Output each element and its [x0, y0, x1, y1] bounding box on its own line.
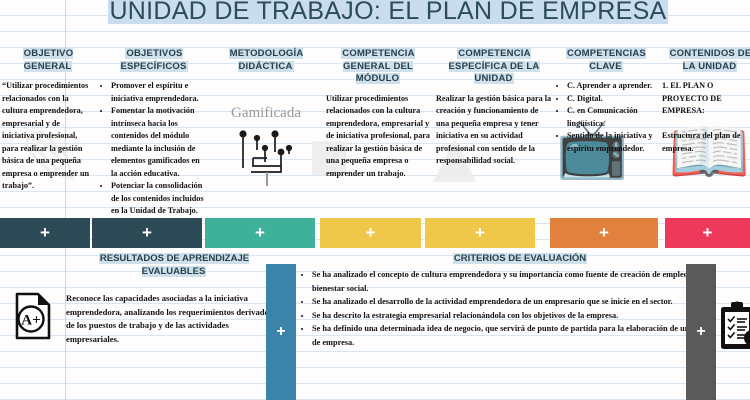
plus-icon: +	[276, 324, 285, 340]
column-heading-text: COMPETENCIA GENERAL DEL MÓDULO	[341, 48, 414, 84]
column-heading-text: OBJETIVOS ESPECÍFICOS	[120, 48, 187, 72]
column-paragraph: 1. EL PLAN O PROYECTO DE EMPRESA: Estruc…	[662, 80, 750, 155]
plus-icon: +	[40, 224, 50, 241]
criterios-heading: CRITERIOS DE EVALUACIÓN	[300, 252, 740, 265]
plus-box-4[interactable]: +	[320, 218, 421, 248]
plus-icon: +	[599, 224, 609, 241]
plus-icon: +	[475, 224, 485, 241]
plus-box-3[interactable]: +	[205, 218, 315, 248]
column-paragraph: Realizar la gestión básica para la creac…	[436, 93, 552, 168]
list-item: C. Digital.	[567, 93, 656, 106]
column-heading: COMPETENCIAS CLAVE	[556, 48, 656, 73]
column-competencias-clave: COMPETENCIAS CLAVE C. Aprender a aprende…	[556, 48, 656, 155]
list-item: Se ha analizado el concepto de cultura e…	[312, 268, 712, 295]
column-heading-text: CONTENIDOS DE LA UNIDAD	[669, 48, 750, 72]
page-title: UNIDAD DE TRABAJO: EL PLAN DE EMPRESA	[108, 0, 668, 24]
column-competencia-general: COMPETENCIA GENERAL DEL MÓDULO Utilizar …	[326, 48, 430, 180]
plus-box-1[interactable]: +	[0, 218, 90, 248]
plus-icon: +	[703, 224, 713, 241]
plus-icon: +	[142, 224, 152, 241]
column-competencia-especifica: COMPETENCIA ESPECÍFICA DE LA UNIDAD Real…	[436, 48, 552, 168]
plus-box-2[interactable]: +	[92, 218, 202, 248]
plus-icon: +	[366, 224, 376, 241]
list-item: Se ha descrito la estrategia empresarial…	[312, 309, 712, 323]
plus-bar-right-vertical[interactable]: +	[686, 264, 716, 400]
column-paragraph: Utilizar procedimientos relacionados con…	[326, 93, 430, 181]
column-contenidos-unidad: CONTENIDOS DE LA UNIDAD 1. EL PLAN O PRO…	[662, 48, 750, 155]
plus-box-5[interactable]: +	[425, 218, 535, 248]
plus-icon: +	[696, 324, 705, 340]
color-plus-bar: +++++++	[0, 218, 750, 248]
criterios-body: Se ha analizado el concepto de cultura e…	[300, 268, 712, 349]
bullet-list: Promover el espíritu e iniciativa empren…	[100, 80, 208, 218]
column-objetivo-general: OBJETIVO GENERAL “Utilizar procedimiento…	[2, 48, 94, 193]
plus-box-7[interactable]: +	[665, 218, 750, 248]
list-item: C. en Comunicación lingüística.	[567, 105, 656, 130]
resultados-heading-text: RESULTADOS DE APRENDIZAJE EVALUABLES	[99, 253, 249, 277]
column-objetivos-especificos: OBJETIVOS ESPECÍFICOS Promover el espíri…	[100, 48, 208, 218]
column-heading: METODOLOGÍA DIDÁCTICA	[212, 48, 320, 73]
resultados-body: Reconoce las capacidades asociadas a la …	[66, 292, 276, 346]
plus-box-6[interactable]: +	[550, 218, 658, 248]
column-heading: COMPETENCIA GENERAL DEL MÓDULO	[326, 48, 430, 86]
plus-bar-left-vertical[interactable]: +	[266, 264, 296, 400]
column-heading-text: COMPETENCIAS CLAVE	[566, 48, 646, 72]
column-metodologia-didactica: METODOLOGÍA DIDÁCTICA Gamificada	[212, 48, 320, 188]
document-a-plus-icon: A+	[14, 292, 52, 345]
svg-text:A+: A+	[21, 313, 40, 329]
column-heading: COMPETENCIA ESPECÍFICA DE LA UNIDAD	[436, 48, 552, 86]
list-item: Sentido de la iniciativa y espíritu empr…	[567, 130, 656, 155]
plus-icon: +	[255, 224, 265, 241]
list-item: Potenciar la consolidación de los conten…	[111, 180, 208, 218]
column-body: Realizar la gestión básica para la creac…	[436, 93, 552, 168]
bullet-list: Se ha analizado el concepto de cultura e…	[300, 268, 712, 349]
clipboard-checklist-icon	[718, 300, 750, 357]
column-heading: OBJETIVOS ESPECÍFICOS	[100, 48, 208, 73]
list-item: Se ha definido una determinada idea de n…	[312, 322, 712, 349]
column-body: Promover el espíritu e iniciativa empren…	[100, 80, 208, 218]
list-item: Fomentar la motivación intrínseca hacia …	[111, 105, 208, 180]
column-body: 1. EL PLAN O PROYECTO DE EMPRESA: Estruc…	[662, 80, 750, 155]
column-heading-text: OBJETIVO GENERAL	[23, 48, 74, 72]
network-nodes-icon	[233, 128, 299, 188]
list-item: Promover el espíritu e iniciativa empren…	[111, 80, 208, 105]
column-heading-text: COMPETENCIA ESPECÍFICA DE LA UNIDAD	[449, 48, 540, 84]
criterios-heading-text: CRITERIOS DE EVALUACIÓN	[453, 253, 587, 264]
metodologia-value: Gamificada	[212, 107, 320, 120]
column-heading: CONTENIDOS DE LA UNIDAD	[662, 48, 750, 73]
list-item: Se ha analizado el desarrollo de la acti…	[312, 295, 712, 309]
column-paragraph: “Utilizar procedimientos relacionados co…	[2, 80, 94, 193]
column-body: Gamificada	[212, 107, 320, 188]
column-body: Utilizar procedimientos relacionados con…	[326, 93, 430, 181]
list-item: C. Aprender a aprender.	[567, 80, 656, 93]
bullet-list: C. Aprender a aprender. C. Digital. C. e…	[556, 80, 656, 155]
column-body: “Utilizar procedimientos relacionados co…	[2, 80, 94, 193]
column-body: C. Aprender a aprender. C. Digital. C. e…	[556, 80, 656, 155]
column-heading: OBJETIVO GENERAL	[2, 48, 94, 73]
column-heading-text: METODOLOGÍA DIDÁCTICA	[229, 48, 304, 72]
resultados-heading: RESULTADOS DE APRENDIZAJE EVALUABLES	[74, 252, 274, 278]
